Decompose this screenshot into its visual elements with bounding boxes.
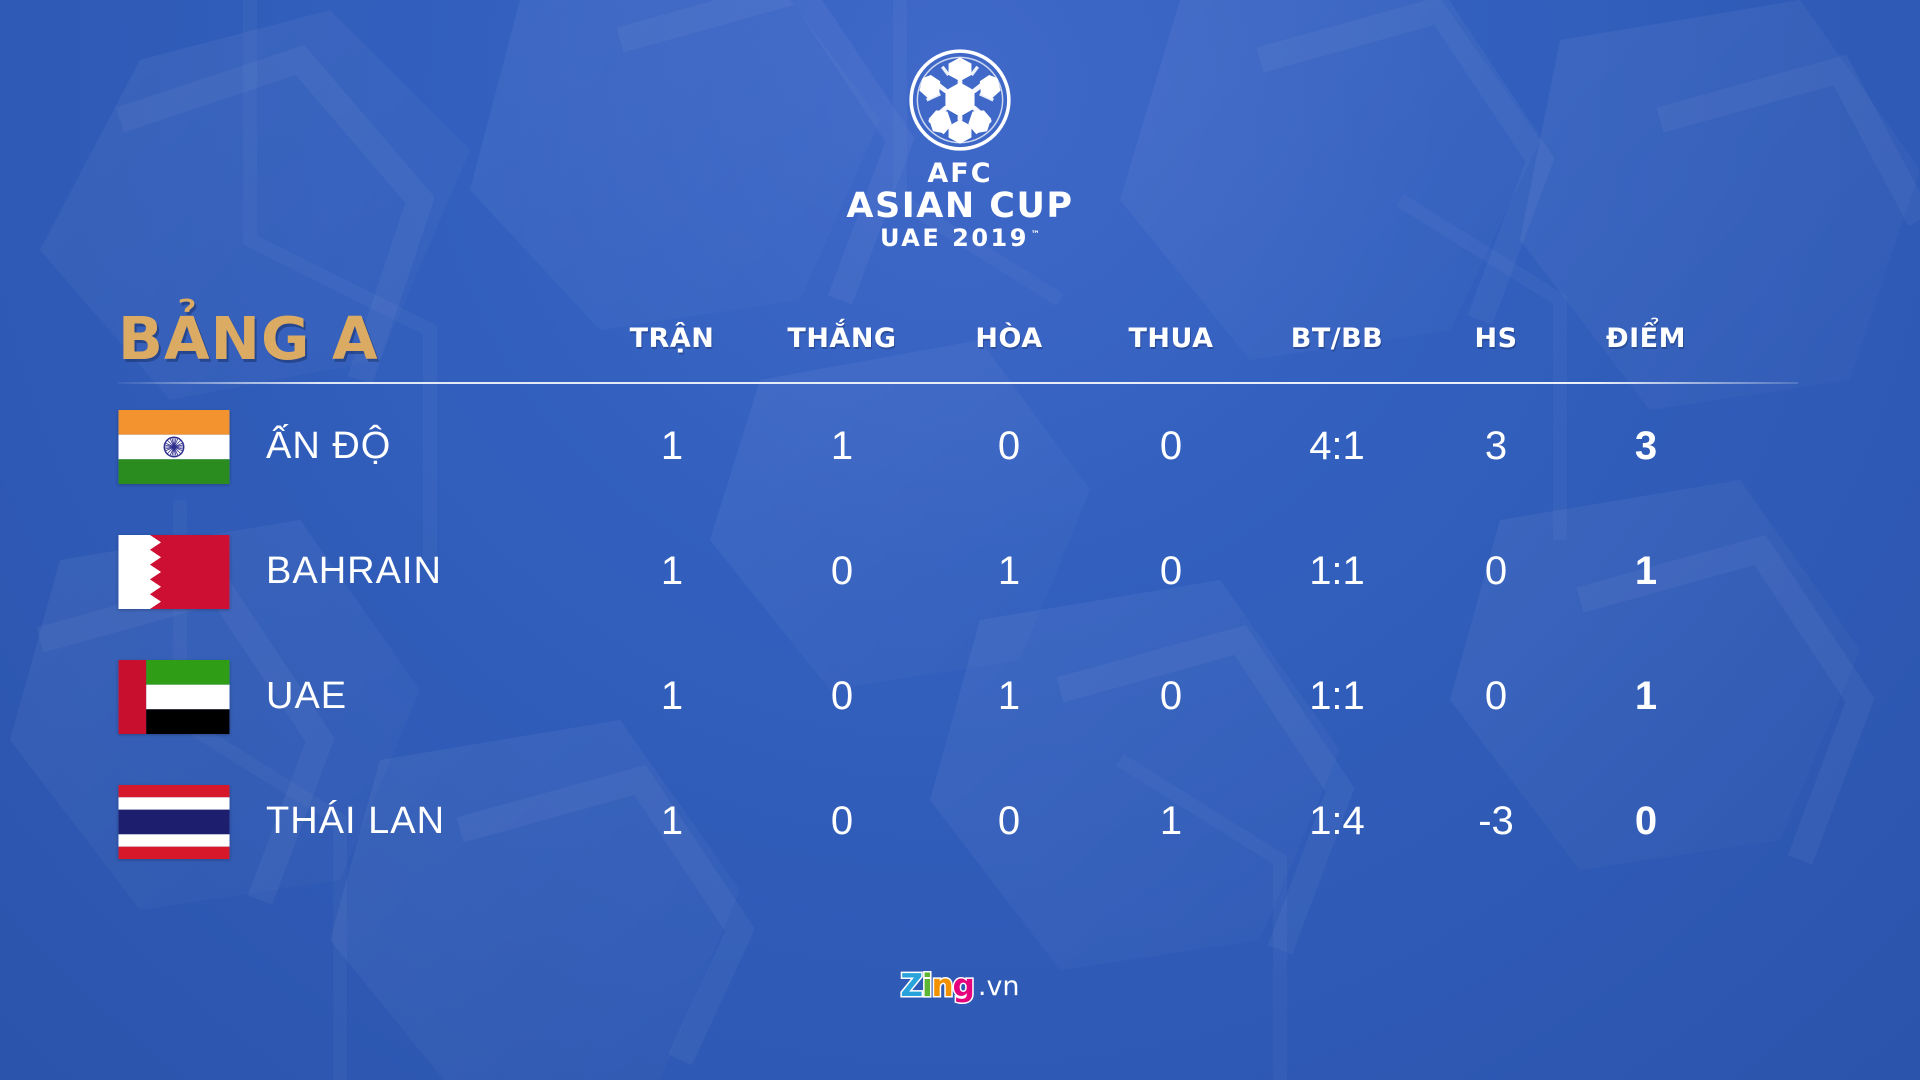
cell-played: 1 <box>588 549 756 594</box>
table-header-row: BẢNG A TRẬN THẮNG HÒA THUA BT/BB HS ĐIỂM <box>118 300 1804 376</box>
bahrain-flag <box>118 535 230 609</box>
zing-tld: .vn <box>978 971 1020 1002</box>
zing-letter-n: n <box>932 968 953 1004</box>
column-header-lost: THUA <box>1090 323 1252 354</box>
cell-won: 0 <box>756 549 928 594</box>
zing-letter-g: g <box>953 968 974 1004</box>
column-header-drawn: HÒA <box>928 323 1090 354</box>
team-identity: UAE <box>118 660 588 734</box>
cell-played: 1 <box>588 799 756 844</box>
zing-wordmark: Zing <box>900 968 973 1004</box>
cell-lost: 0 <box>1090 674 1252 719</box>
cell-lost: 0 <box>1090 549 1252 594</box>
zing-letter-i: i <box>922 968 932 1004</box>
india-flag <box>118 410 230 484</box>
team-identity: ẤN ĐỘ <box>118 410 588 484</box>
table-row[interactable]: UAE 1 0 1 0 1:1 0 1 <box>118 634 1804 759</box>
column-header-played: TRẬN <box>588 323 756 354</box>
cell-gd: 0 <box>1422 674 1570 719</box>
cell-gd: -3 <box>1422 799 1570 844</box>
team-identity: THÁI LAN <box>118 785 588 859</box>
cell-points: 0 <box>1570 799 1722 844</box>
soccer-ball-icon <box>908 48 1012 152</box>
cell-drawn: 1 <box>928 549 1090 594</box>
standings-table: BẢNG A TRẬN THẮNG HÒA THUA BT/BB HS ĐIỂM <box>118 300 1804 884</box>
cell-points: 3 <box>1570 424 1722 469</box>
column-header-gd: HS <box>1422 323 1570 354</box>
logo-afc-text: AFC <box>846 160 1073 188</box>
logo-uae-2019-text: UAE 2019™ <box>880 225 1040 253</box>
cell-drawn: 0 <box>928 424 1090 469</box>
team-name: BAHRAIN <box>266 550 442 593</box>
cell-goals: 1:1 <box>1252 549 1422 594</box>
uae-flag <box>118 660 230 734</box>
table-row[interactable]: BAHRAIN 1 0 1 0 1:1 0 1 <box>118 509 1804 634</box>
column-header-won: THẮNG <box>756 323 928 354</box>
cell-lost: 0 <box>1090 424 1252 469</box>
logo-uae-2019-label: UAE 2019 <box>880 224 1029 252</box>
trademark-symbol: ™ <box>1031 230 1040 240</box>
cell-drawn: 1 <box>928 674 1090 719</box>
cell-gd: 0 <box>1422 549 1570 594</box>
zing-vn-watermark: Zing .vn <box>0 968 1920 1004</box>
cell-lost: 1 <box>1090 799 1252 844</box>
cell-played: 1 <box>588 424 756 469</box>
table-row[interactable]: THÁI LAN 1 0 0 1 1:4 -3 0 <box>118 759 1804 884</box>
cell-gd: 3 <box>1422 424 1570 469</box>
team-name: UAE <box>266 675 347 718</box>
cell-points: 1 <box>1570 549 1722 594</box>
logo-asian-cup-text: ASIAN CUP <box>846 188 1073 225</box>
column-header-goals: BT/BB <box>1252 323 1422 354</box>
zing-letter-z: Z <box>900 968 921 1004</box>
team-identity: BAHRAIN <box>118 535 588 609</box>
page-title: BẢNG A <box>118 304 588 373</box>
table-row[interactable]: ẤN ĐỘ 1 1 0 0 4:1 3 3 <box>118 384 1804 509</box>
cell-won: 1 <box>756 424 928 469</box>
column-header-points: ĐIỂM <box>1570 323 1722 354</box>
team-name: ẤN ĐỘ <box>266 425 391 468</box>
thailand-flag <box>118 785 230 859</box>
cell-won: 0 <box>756 674 928 719</box>
cell-goals: 1:1 <box>1252 674 1422 719</box>
cell-goals: 4:1 <box>1252 424 1422 469</box>
cell-played: 1 <box>588 674 756 719</box>
team-name: THÁI LAN <box>266 800 445 843</box>
afc-asian-cup-logo: AFC ASIAN CUP UAE 2019™ <box>0 48 1920 253</box>
cell-points: 1 <box>1570 674 1722 719</box>
cell-drawn: 0 <box>928 799 1090 844</box>
cell-won: 0 <box>756 799 928 844</box>
cell-goals: 1:4 <box>1252 799 1422 844</box>
